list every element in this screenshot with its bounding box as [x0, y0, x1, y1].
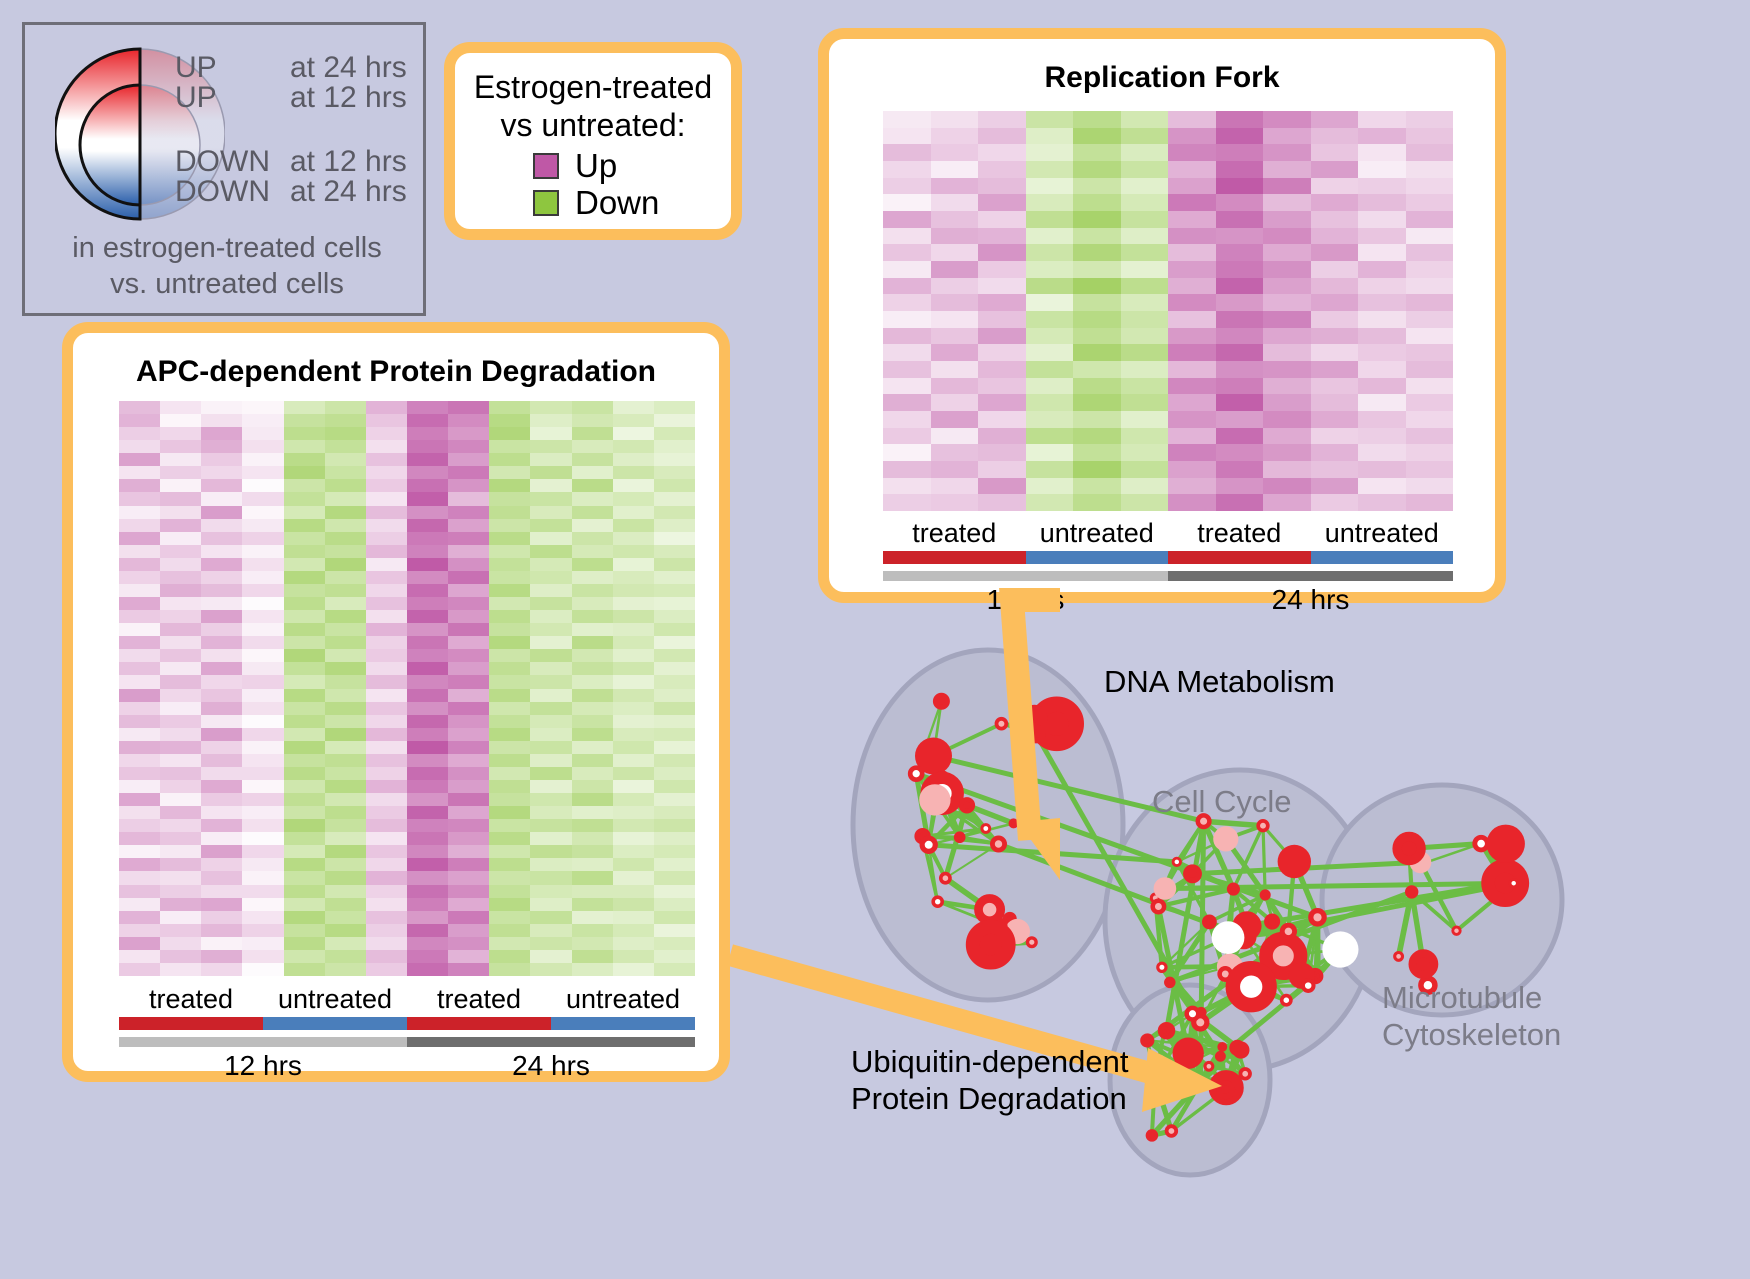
heatmap-cell: [1263, 278, 1311, 295]
condition-segment: [263, 1017, 407, 1030]
heatmap-cell: [201, 662, 242, 675]
heatmap-cell: [119, 662, 160, 675]
heatmap-cell: [119, 832, 160, 845]
heatmap-cell: [1073, 111, 1121, 128]
heatmap-cell: [613, 597, 654, 610]
heatmap-cell: [242, 636, 283, 649]
heatmap-cell: [572, 610, 613, 623]
heatmap-cell: [931, 294, 979, 311]
heatmap-cell: [1263, 461, 1311, 478]
updown-legend-items: Up Down: [533, 149, 659, 223]
heatmap-cell: [448, 741, 489, 754]
heatmap-cell: [489, 832, 530, 845]
heatmap-cell: [284, 806, 325, 819]
heatmap-cell: [366, 571, 407, 584]
heatmap-cell: [407, 636, 448, 649]
network-node: [1154, 877, 1177, 900]
heatmap-cell: [325, 610, 366, 623]
heatmap-cell: [1263, 294, 1311, 311]
heatmap-cell: [654, 898, 695, 911]
heatmap-cell: [978, 228, 1026, 245]
heatmap-cell: [1121, 461, 1169, 478]
heatmap-cell: [1263, 378, 1311, 395]
heatmap-cell: [883, 194, 931, 211]
heatmap-cell: [448, 649, 489, 662]
heatmap-cell: [325, 963, 366, 976]
heatmap-cell: [530, 793, 571, 806]
heatmap-cell: [978, 211, 1026, 228]
heatmap-cell: [1073, 428, 1121, 445]
heatmap-cell: [366, 636, 407, 649]
timepoint-label: 12 hrs: [119, 1050, 407, 1082]
condition-label: untreated: [1311, 519, 1454, 549]
heatmap-cell: [572, 793, 613, 806]
heatmap-cell: [489, 597, 530, 610]
heatmap-cell: [1168, 411, 1216, 428]
heatmap-cell: [242, 649, 283, 662]
heatmap-cell: [1121, 411, 1169, 428]
heatmap-cell: [366, 793, 407, 806]
timepoint-label: 24 hrs: [1168, 584, 1453, 616]
heatmap-cell: [1406, 411, 1454, 428]
heatmap-cell: [201, 440, 242, 453]
heatmap-cell: [1406, 178, 1454, 195]
heatmap-cell: [242, 558, 283, 571]
heatmap-cell: [1311, 394, 1359, 411]
heatmap-cell: [201, 728, 242, 741]
heatmap-cell: [448, 715, 489, 728]
heatmap-cell: [448, 532, 489, 545]
heatmap-cell: [654, 754, 695, 767]
heatmap-cell: [242, 519, 283, 532]
heatmap-cell: [530, 819, 571, 832]
heatmap-cell: [1026, 394, 1074, 411]
heatmap-cell: [407, 728, 448, 741]
heatmap-cell: [325, 401, 366, 414]
heatmap-cell: [1026, 161, 1074, 178]
heatmap-cell: [242, 715, 283, 728]
heatmap-cell: [448, 728, 489, 741]
heatmap-cell: [1406, 444, 1454, 461]
heatmap-cell: [1026, 211, 1074, 228]
heatmap-cell: [448, 610, 489, 623]
heatmap-cell: [1216, 328, 1264, 345]
heatmap-cell: [931, 378, 979, 395]
heatmap-cell: [1073, 261, 1121, 278]
heatmap-cell: [448, 636, 489, 649]
heatmap-cell: [654, 492, 695, 505]
heatmap-cell: [572, 871, 613, 884]
heatmap-cell: [407, 845, 448, 858]
up-color-swatch: [533, 153, 559, 179]
heatmap-cell: [160, 519, 201, 532]
heatmap-cell: [160, 885, 201, 898]
heatmap-cell: [1168, 111, 1216, 128]
heatmap-cell: [1168, 278, 1216, 295]
heatmap-cell: [407, 519, 448, 532]
heatmap-cell: [119, 414, 160, 427]
heatmap-cell: [160, 597, 201, 610]
network-node: [1219, 1043, 1226, 1050]
heatmap-cell: [284, 610, 325, 623]
heatmap-cell: [201, 845, 242, 858]
heatmap-cell: [325, 597, 366, 610]
heatmap-cell: [1311, 444, 1359, 461]
network-node: [982, 825, 990, 833]
heatmap-cell: [119, 767, 160, 780]
heatmap-cell: [978, 144, 1026, 161]
heatmap-cell: [572, 466, 613, 479]
heatmap-cell: [978, 178, 1026, 195]
heatmap-cell: [1121, 344, 1169, 361]
heatmap-cell: [201, 702, 242, 715]
timepoint-labels: 12 hrs 24 hrs: [883, 584, 1453, 616]
heatmap-cell: [530, 584, 571, 597]
heatmap-cell: [1026, 244, 1074, 261]
heatmap-cell: [613, 780, 654, 793]
heatmap-cell: [201, 584, 242, 597]
heatmap-cell: [978, 378, 1026, 395]
heatmap-cell: [1311, 461, 1359, 478]
heatmap-cell: [284, 911, 325, 924]
heatmap-cell: [654, 466, 695, 479]
heatmap-cell: [448, 898, 489, 911]
heatmap-cell: [242, 754, 283, 767]
heatmap-cell: [1073, 278, 1121, 295]
heatmap-cell: [448, 571, 489, 584]
heatmap-cell: [572, 741, 613, 754]
heatmap-cell: [160, 584, 201, 597]
heatmap-cell: [119, 793, 160, 806]
heatmap-cell: [160, 479, 201, 492]
heatmap-cell: [1406, 361, 1454, 378]
heatmap-cell: [1121, 128, 1169, 145]
heatmap-cell: [242, 584, 283, 597]
heatmap-cell: [407, 858, 448, 871]
heatmap-cell: [572, 636, 613, 649]
heatmap-cell: [1406, 478, 1454, 495]
timepoint-segment: [1168, 571, 1453, 581]
heatmap-cell: [160, 754, 201, 767]
heatmap-cell: [1121, 194, 1169, 211]
heatmap-cell: [489, 623, 530, 636]
heatmap-cell: [489, 806, 530, 819]
heatmap-cell: [1358, 494, 1406, 511]
heatmap-cell: [1216, 311, 1264, 328]
heatmap-cell: [1358, 111, 1406, 128]
heatmap-cell: [325, 649, 366, 662]
heatmap-cell: [1168, 444, 1216, 461]
heatmap-cell: [1168, 161, 1216, 178]
heatmap-cell: [119, 754, 160, 767]
heatmap-cell: [613, 793, 654, 806]
heatmap-cell: [489, 675, 530, 688]
colorwheel-legend-box: UP at 24 hrs UP at 12 hrs DOWN at 12 hrs…: [22, 22, 426, 316]
heatmap-cell: [613, 440, 654, 453]
cluster-label-microtubule-line1: Microtubule: [1382, 980, 1561, 1017]
heatmap-cell: [119, 715, 160, 728]
heatmap-cell: [1358, 194, 1406, 211]
heatmap-cell: [1073, 228, 1121, 245]
heatmap-cell: [201, 675, 242, 688]
network-node: [1395, 953, 1403, 961]
heatmap-cell: [242, 427, 283, 440]
heatmap-cell: [1311, 411, 1359, 428]
heatmap-cell: [448, 427, 489, 440]
heatmap-cell: [1168, 361, 1216, 378]
cluster-label-microtubule-cytoskeleton: Microtubule Cytoskeleton: [1382, 980, 1561, 1053]
heatmap-cell: [242, 858, 283, 871]
heatmap-cell: [242, 741, 283, 754]
heatmap-cell: [366, 440, 407, 453]
heatmap-cell: [201, 597, 242, 610]
axis-replication-fork: treated untreated treated untreated 12 h…: [883, 519, 1453, 616]
heatmap-cell: [530, 571, 571, 584]
heatmap-cell: [242, 675, 283, 688]
heatmap-cell: [1406, 294, 1454, 311]
heatmap-cell: [1263, 344, 1311, 361]
heatmap-cell: [883, 311, 931, 328]
heatmap-cell: [978, 244, 1026, 261]
heatmap-cell: [366, 858, 407, 871]
heatmap-cell: [613, 754, 654, 767]
heatmap-cell: [119, 689, 160, 702]
heatmap-cell: [119, 675, 160, 688]
heatmap-cell: [325, 885, 366, 898]
heatmap-cell: [530, 636, 571, 649]
heatmap-cell: [1168, 228, 1216, 245]
network-node: [1397, 837, 1421, 861]
heatmap-cell: [242, 623, 283, 636]
heatmap-cell: [883, 328, 931, 345]
heatmap-cell: [325, 532, 366, 545]
heatmap-cell: [407, 479, 448, 492]
heatmap-cell: [119, 937, 160, 950]
heatmap-cell: [530, 675, 571, 688]
network-node: [1261, 891, 1269, 899]
heatmap-cell: [119, 532, 160, 545]
heatmap-cell: [1311, 178, 1359, 195]
heatmap-cell: [572, 597, 613, 610]
heatmap-cell: [448, 963, 489, 976]
heatmap-cell: [366, 871, 407, 884]
heatmap-cell: [978, 278, 1026, 295]
heatmap-cell: [366, 597, 407, 610]
network-node: [941, 874, 950, 883]
heatmap-cell: [1216, 294, 1264, 311]
heatmap-cell: [284, 545, 325, 558]
heatmap-cell: [489, 715, 530, 728]
heatmap-cell: [284, 780, 325, 793]
colorwheel-value: at 12 hrs: [290, 147, 407, 177]
heatmap-cell: [572, 440, 613, 453]
heatmap-cell: [530, 832, 571, 845]
heatmap-cell: [242, 832, 283, 845]
heatmap-cell: [1311, 211, 1359, 228]
heatmap-cell: [489, 754, 530, 767]
heatmap-cell: [1216, 361, 1264, 378]
heatmap-cell: [530, 858, 571, 871]
heatmap-cell: [284, 584, 325, 597]
heatmap-cell: [407, 414, 448, 427]
heatmap-cell: [654, 453, 695, 466]
heatmap-cell: [201, 806, 242, 819]
heatmap-cell: [654, 950, 695, 963]
heatmap-cell: [1121, 311, 1169, 328]
heatmap-cell: [366, 427, 407, 440]
heatmap-cell: [448, 453, 489, 466]
heatmap-cell: [201, 689, 242, 702]
network-node: [1187, 1008, 1199, 1020]
heatmap-cell: [242, 767, 283, 780]
network-node: [1266, 916, 1278, 928]
heatmap-cell: [325, 440, 366, 453]
heatmap-cell: [931, 228, 979, 245]
heatmap-cell: [407, 780, 448, 793]
heatmap-cell: [1026, 411, 1074, 428]
heatmap-cell: [325, 675, 366, 688]
heatmap-cell: [572, 911, 613, 924]
heatmap-cell: [613, 558, 654, 571]
heatmap-cell: [572, 662, 613, 675]
heatmap-cell: [654, 610, 695, 623]
heatmap-cell: [613, 871, 654, 884]
heatmap-cell: [1121, 161, 1169, 178]
heatmap-cell: [242, 937, 283, 950]
heatmap-cell: [242, 793, 283, 806]
heatmap-cell: [284, 662, 325, 675]
heatmap-cell: [654, 597, 695, 610]
heatmap-cell: [1073, 444, 1121, 461]
heatmap-cell: [407, 963, 448, 976]
heatmap-cell: [572, 414, 613, 427]
heatmap-cell: [366, 780, 407, 793]
heatmap-cell: [1073, 211, 1121, 228]
heatmap-cell: [883, 444, 931, 461]
heatmap-cell: [654, 885, 695, 898]
cluster-label-dna-metabolism: DNA Metabolism: [1104, 664, 1335, 701]
heatmap-cell: [931, 328, 979, 345]
heatmap-cell: [978, 328, 1026, 345]
heatmap-cell: [1406, 344, 1454, 361]
heatmap-cell: [1358, 361, 1406, 378]
updown-legend-title-line2: vs untreated:: [455, 107, 731, 145]
heatmap-cell: [654, 871, 695, 884]
heatmap-cell: [931, 478, 979, 495]
heatmap-cell: [201, 649, 242, 662]
down-color-swatch: [533, 190, 559, 216]
heatmap-cell: [883, 344, 931, 361]
heatmap-cell: [325, 519, 366, 532]
heatmap-cell: [284, 832, 325, 845]
heatmap-cell: [284, 597, 325, 610]
heatmap-cell: [530, 479, 571, 492]
heatmap-cell: [530, 558, 571, 571]
heatmap-cell: [284, 767, 325, 780]
heatmap-cell: [489, 414, 530, 427]
heatmap-cell: [489, 401, 530, 414]
heatmap-cell: [242, 780, 283, 793]
heatmap-cell: [284, 819, 325, 832]
heatmap-cell: [201, 623, 242, 636]
heatmap-cell: [654, 858, 695, 871]
heatmap-cell: [1121, 444, 1169, 461]
heatmap-cell: [366, 806, 407, 819]
heatmap-cell: [242, 806, 283, 819]
heatmap-cell: [1311, 311, 1359, 328]
heatmap-cell: [530, 924, 571, 937]
heatmap-cell: [1358, 411, 1406, 428]
heatmap-cell: [613, 401, 654, 414]
heatmap-cell: [1358, 344, 1406, 361]
cluster-label-ubiquitin-line1: Ubiquitin-dependent: [851, 1044, 1129, 1081]
heatmap-cell: [160, 649, 201, 662]
network-node: [1213, 826, 1238, 851]
heatmap-cell: [931, 444, 979, 461]
heatmap-cell: [530, 545, 571, 558]
heatmap-cell: [654, 545, 695, 558]
heatmap-cell: [1311, 278, 1359, 295]
heatmap-cell: [242, 911, 283, 924]
timepoint-color-bar: [883, 571, 1453, 581]
heatmap-cell: [1121, 394, 1169, 411]
heatmap-cell: [448, 702, 489, 715]
heatmap-cell: [366, 963, 407, 976]
heatmap-cell: [160, 414, 201, 427]
network-node: [1232, 1042, 1244, 1054]
heatmap-cell: [489, 466, 530, 479]
network-node: [1311, 911, 1324, 924]
heatmap-cell: [1358, 311, 1406, 328]
heatmap-cell: [366, 414, 407, 427]
timepoint-segment: [883, 571, 1168, 581]
heatmap-cell: [1026, 444, 1074, 461]
heatmap-cell: [201, 898, 242, 911]
heatmap-cell: [1216, 428, 1264, 445]
heatmap-cell: [1311, 144, 1359, 161]
heatmap-cell: [1026, 294, 1074, 311]
heatmap-cell: [284, 427, 325, 440]
network-node: [919, 784, 950, 815]
heatmap-cell: [201, 858, 242, 871]
condition-color-bar: [883, 551, 1453, 564]
heatmap-cell: [572, 963, 613, 976]
heatmap-cell: [1263, 394, 1311, 411]
heatmap-cell: [325, 571, 366, 584]
heatmap-cell: [160, 506, 201, 519]
cluster-label-ubiquitin-degradation: Ubiquitin-dependent Protein Degradation: [851, 1044, 1129, 1117]
heatmap-cell: [1073, 378, 1121, 395]
network-node: [1229, 884, 1238, 893]
heatmap-cell: [489, 492, 530, 505]
heatmap-cell: [1073, 178, 1121, 195]
heatmap-cell: [530, 911, 571, 924]
heatmap-cell: [160, 911, 201, 924]
network-node: [1158, 963, 1166, 971]
heatmap-cell: [325, 819, 366, 832]
heatmap-cell: [654, 963, 695, 976]
heatmap-cell: [1311, 428, 1359, 445]
heatmap-cell: [160, 702, 201, 715]
heatmap-cell: [572, 479, 613, 492]
heatmap-cell: [489, 440, 530, 453]
heatmap-cell: [119, 623, 160, 636]
condition-segment: [119, 1017, 263, 1030]
heatmap-cell: [1311, 244, 1359, 261]
heatmap-cell: [448, 558, 489, 571]
heatmap-cell: [1263, 411, 1311, 428]
heatmap-cell: [489, 845, 530, 858]
